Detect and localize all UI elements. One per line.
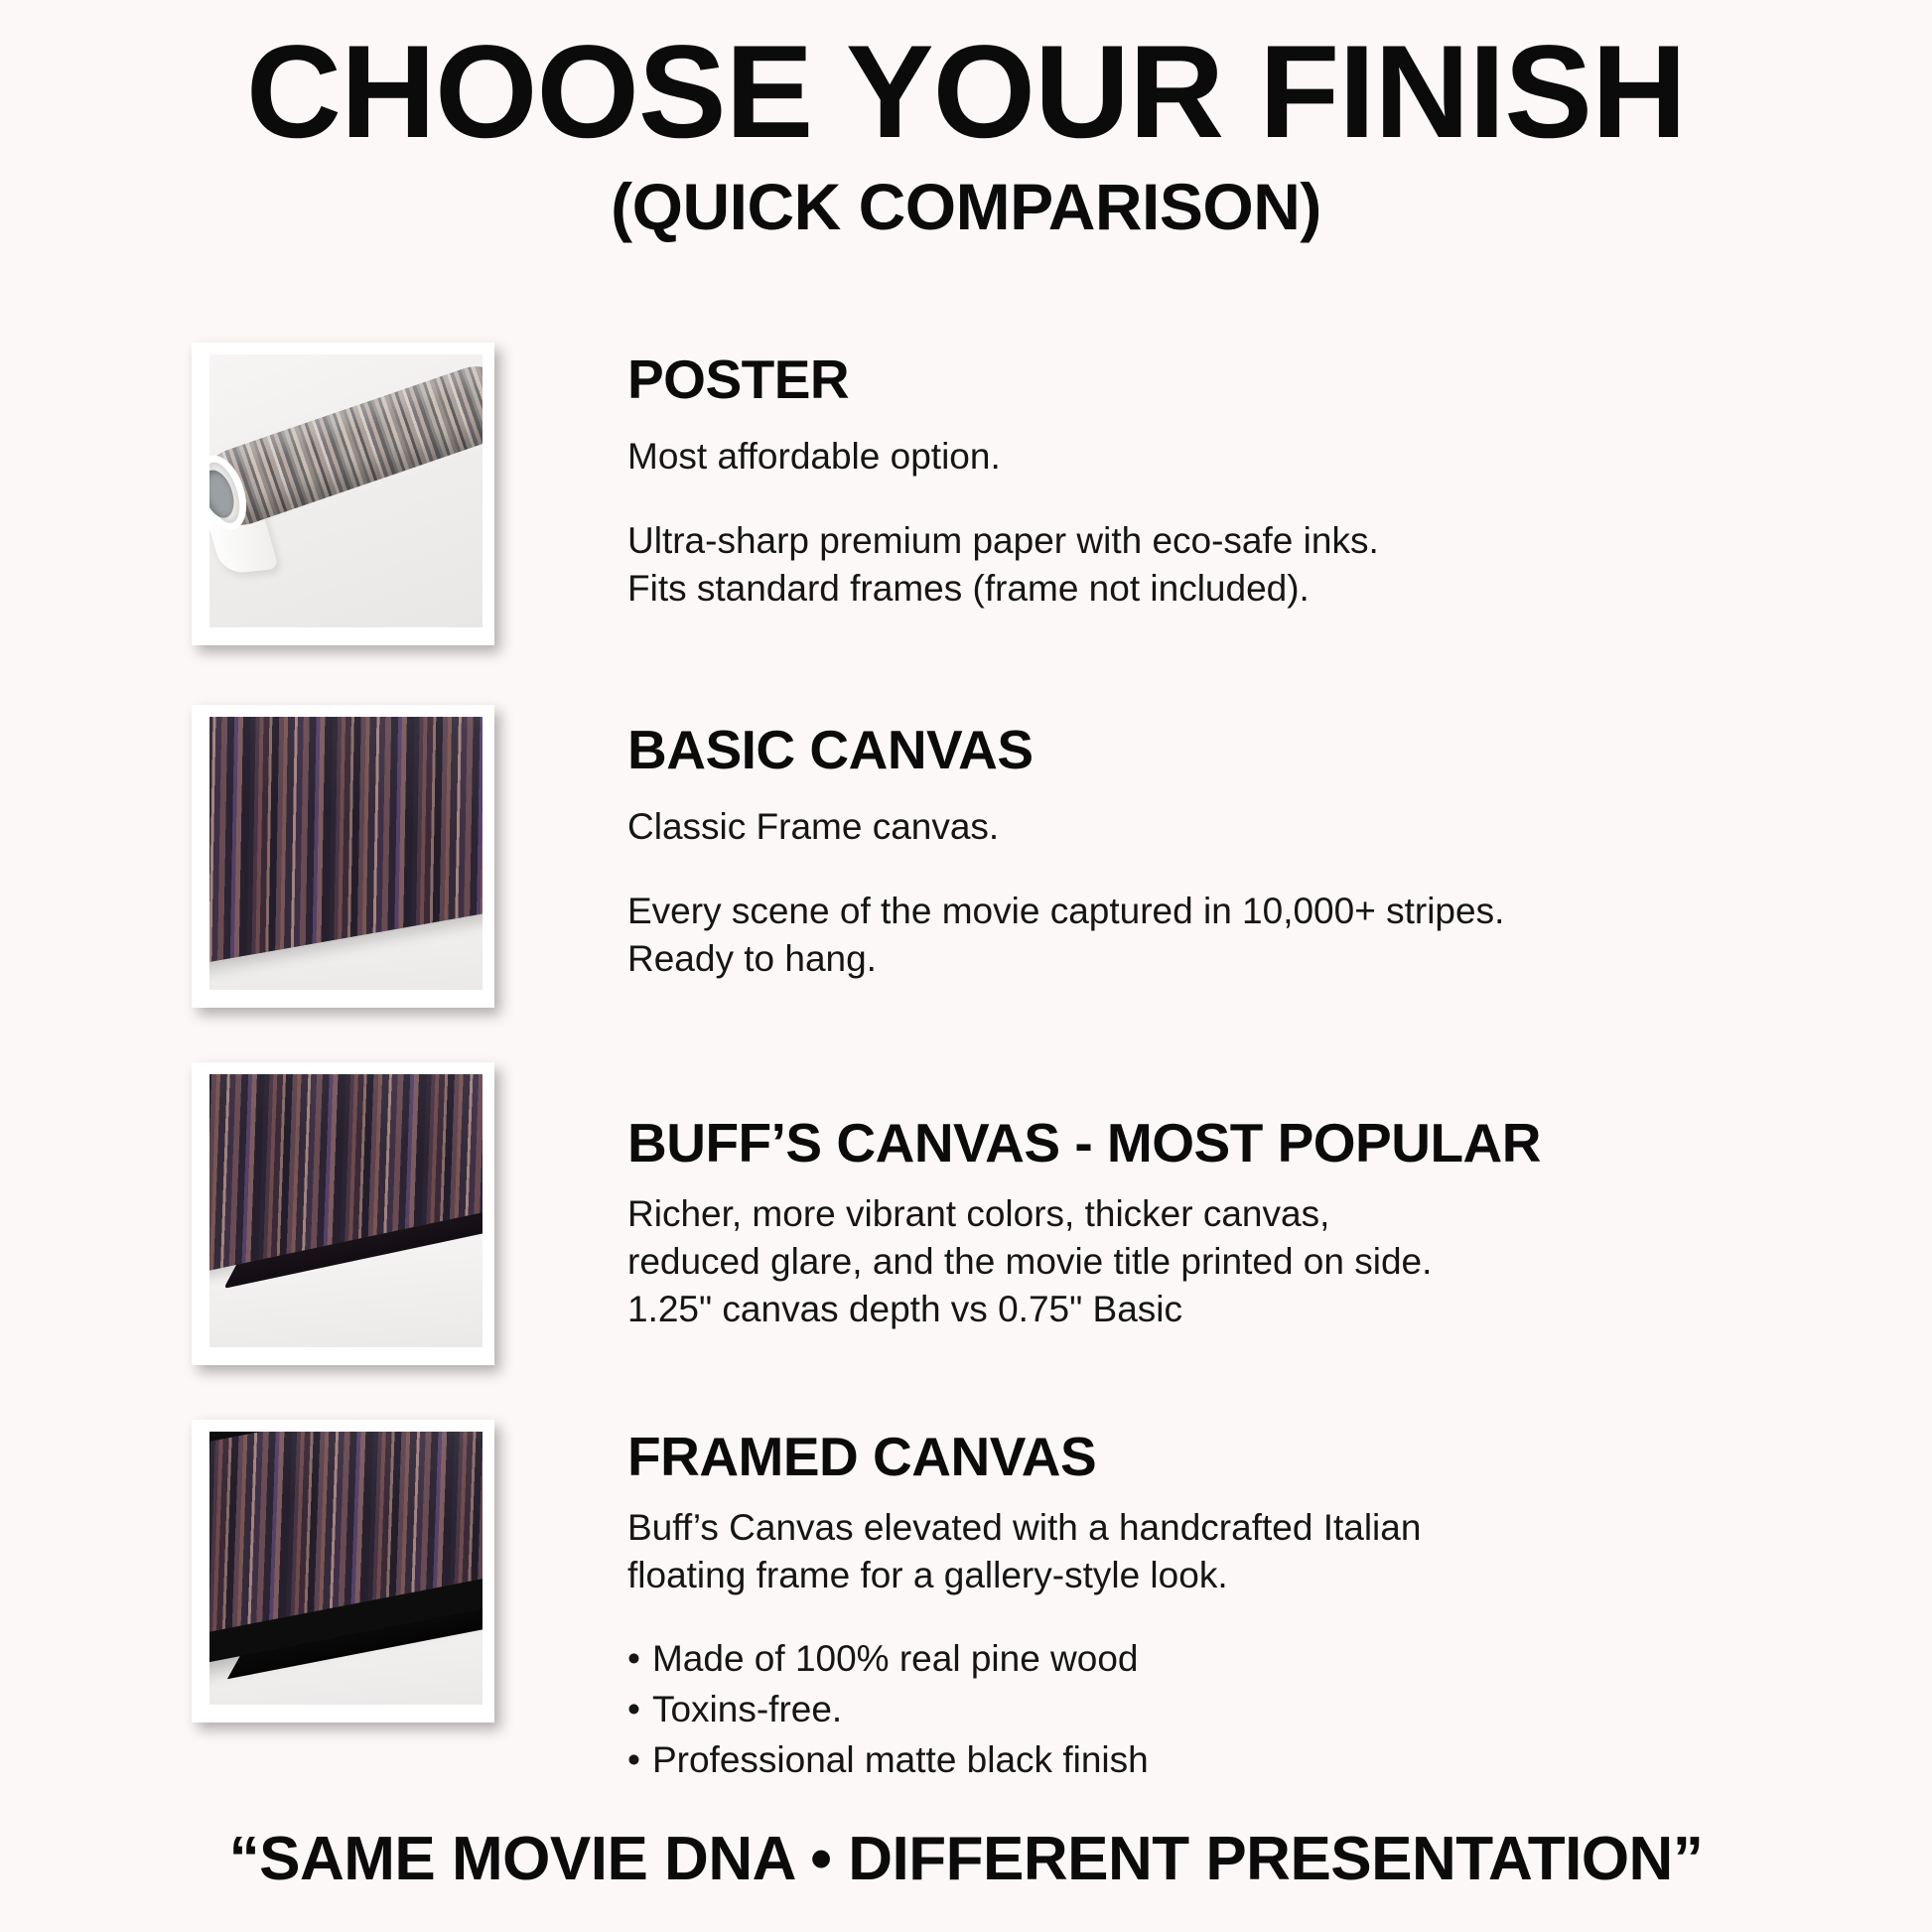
framed-canvas-photo [209,1432,483,1705]
buffs-canvas-body: Richer, more vibrant colors, thicker can… [627,1190,1853,1333]
basic-canvas-body-line-1: Every scene of the movie captured in 10,… [627,891,1504,931]
list-item: Made of 100% real pine wood [627,1633,1853,1684]
buffs-canvas-thumbnail [192,1062,494,1365]
buffs-canvas-photo [209,1074,483,1347]
basic-canvas-gloss [209,717,483,970]
framed-canvas-body: Buff’s Canvas elevated with a handcrafte… [627,1504,1853,1599]
poster-body-line-1: Ultra-sharp premium paper with eco-safe … [627,520,1379,561]
page-footer: “SAME MOVIE DNA • DIFFERENT PRESENTATION… [0,1824,1932,1894]
buffs-canvas-body-line-1: Richer, more vibrant colors, thicker can… [627,1193,1329,1234]
page-title: CHOOSE YOUR FINISH [0,26,1932,161]
framed-canvas-face [209,1432,483,1633]
option-row-poster: POSTER Most affordable option. Ultra-sha… [0,343,1932,645]
framed-canvas-body-line-1: Buff’s Canvas elevated with a handcrafte… [627,1507,1421,1548]
basic-canvas-title: BASIC CANVAS [627,723,1853,777]
basic-canvas-text-block: BASIC CANVAS Classic Frame canvas. Every… [627,723,1932,984]
basic-canvas-face [209,717,483,970]
buffs-canvas-title: BUFF’S CANVAS - MOST POPULAR [627,1116,1853,1171]
page-header: CHOOSE YOUR FINISH (QUICK COMPARISON) [0,0,1932,242]
framed-canvas-thumbnail [192,1420,494,1723]
poster-scene [209,354,483,627]
basic-canvas-lead: Classic Frame canvas. [627,803,1853,850]
basic-canvas-body-line-2: Ready to hang. [627,938,877,979]
list-item: Toxins-free. [627,1684,1853,1734]
option-row-basic-canvas: BASIC CANVAS Classic Frame canvas. Every… [0,705,1932,1008]
poster-roll-shape [209,355,483,535]
option-row-framed-canvas: FRAMED CANVAS Buff’s Canvas elevated wit… [0,1420,1932,1785]
footer-tagline: “SAME MOVIE DNA • DIFFERENT PRESENTATION… [0,1824,1932,1894]
basic-canvas-scene [209,717,483,990]
basic-canvas-photo [209,717,483,990]
finish-comparison-page: CHOOSE YOUR FINISH (QUICK COMPARISON) PO… [0,0,1932,1932]
poster-title: POSTER [627,352,1853,407]
poster-lead: Most affordable option. [627,433,1853,480]
poster-body: Ultra-sharp premium paper with eco-safe … [627,517,1853,613]
buffs-canvas-body-line-3: 1.25" canvas depth vs 0.75" Basic [627,1289,1182,1329]
framed-canvas-text-block: FRAMED CANVAS Buff’s Canvas elevated wit… [627,1430,1932,1785]
poster-text-block: POSTER Most affordable option. Ultra-sha… [627,352,1932,614]
option-row-buffs-canvas: BUFF’S CANVAS - MOST POPULAR Richer, mor… [0,1062,1932,1365]
poster-photo [209,354,483,627]
framed-canvas-body-line-2: floating frame for a gallery-style look. [627,1555,1228,1595]
poster-body-line-2: Fits standard frames (frame not included… [627,568,1310,609]
list-item: Professional matte black finish [627,1734,1853,1785]
page-subtitle: (QUICK COMPARISON) [0,171,1932,243]
buffs-canvas-text-block: BUFF’S CANVAS - MOST POPULAR Richer, mor… [627,1116,1932,1333]
framed-canvas-title: FRAMED CANVAS [627,1430,1853,1484]
buffs-canvas-scene [209,1074,483,1347]
framed-canvas-scene [209,1432,483,1705]
basic-canvas-body: Every scene of the movie captured in 10,… [627,888,1853,983]
framed-canvas-bullet-list: Made of 100% real pine wood Toxins-free.… [627,1633,1853,1785]
framed-canvas-gloss [209,1432,483,1633]
basic-canvas-thumbnail [192,705,494,1008]
buffs-canvas-body-line-2: reduced glare, and the movie title print… [627,1241,1432,1282]
poster-thumbnail [192,343,494,645]
